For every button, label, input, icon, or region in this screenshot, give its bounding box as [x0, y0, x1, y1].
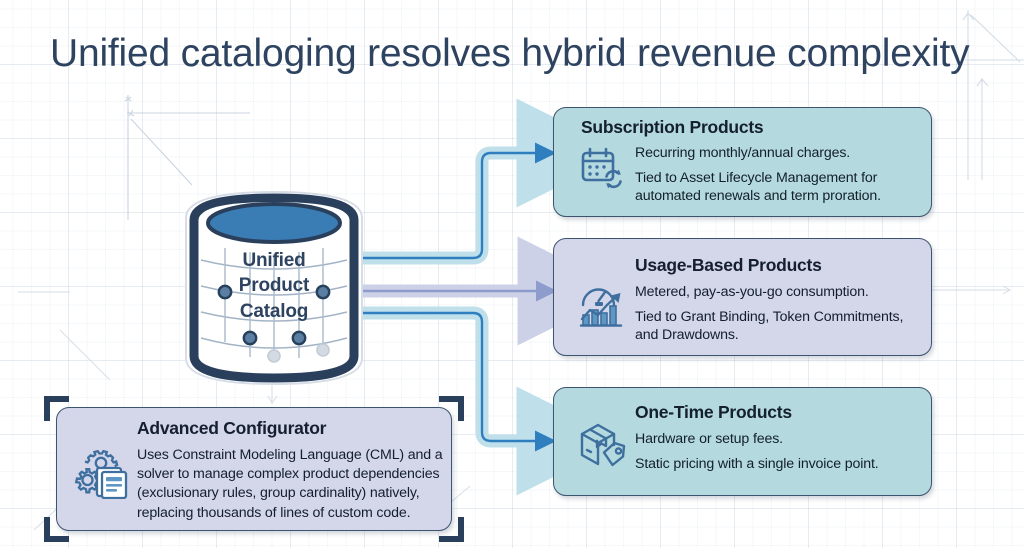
configurator-line-1: Uses Constraint Modeling Language (CML) … [137, 446, 443, 464]
card-usage-line-1: Metered, pay-as-you-go consumption. [635, 283, 920, 301]
gears-document-icon [73, 447, 129, 499]
database-cylinder-icon [168, 182, 380, 394]
card-subscription-title: Subscription Products [581, 117, 763, 138]
configurator-line-2: solver to manage complex product depende… [137, 465, 443, 483]
card-one-time-line-2: Static pricing with a single invoice poi… [635, 455, 920, 473]
card-usage-body: Metered, pay-as-you-go consumption. Tied… [635, 283, 920, 345]
card-usage-based-products[interactable]: Usage-Based Products Metered, pay-as-you… [553, 238, 932, 356]
configurator-line-3: (exclusionary rules, group cardinality) … [137, 484, 443, 502]
card-one-time-line-1: Hardware or setup fees. [635, 430, 920, 448]
package-tag-icon [576, 419, 628, 469]
configurator-line-4: replacing thousands of lines of custom c… [137, 504, 443, 522]
configurator-title: Advanced Configurator [137, 418, 326, 439]
calendar-refresh-icon [578, 144, 626, 192]
card-usage-line-2: Tied to Grant Binding, Token Commitments… [635, 308, 920, 344]
advanced-configurator-group[interactable]: Advanced Configurator Uses Const [44, 396, 464, 542]
card-usage-title: Usage-Based Products [635, 255, 822, 276]
configurator-body: Uses Constraint Modeling Language (CML) … [137, 446, 443, 523]
card-subscription-products[interactable]: Subscription Products Recurring monthly/… [553, 107, 932, 217]
card-one-time-body: Hardware or setup fees. Static pricing w… [635, 430, 920, 473]
connector-to-subscription [352, 153, 545, 258]
card-subscription-line-2: Tied to Asset Lifecycle Management for a… [635, 169, 915, 205]
card-one-time-products[interactable]: One-Time Products Hardware or setup fees… [553, 387, 932, 496]
gauge-bar-chart-icon [576, 277, 628, 329]
card-advanced-configurator[interactable]: Advanced Configurator Uses Const [56, 407, 452, 531]
card-subscription-line-1: Recurring monthly/annual charges. [635, 144, 915, 162]
card-subscription-body: Recurring monthly/annual charges. Tied t… [635, 144, 915, 206]
card-one-time-title: One-Time Products [635, 402, 792, 423]
